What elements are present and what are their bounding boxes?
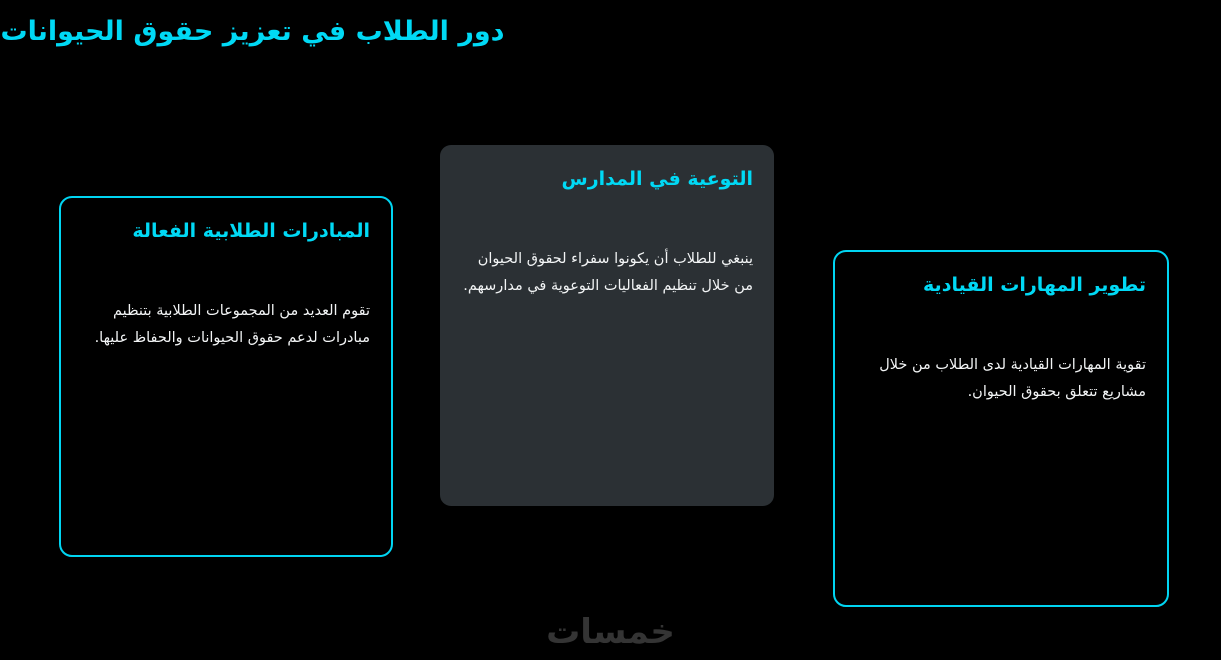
card-leadership-skills[interactable]: تطوير المهارات القيادية تقوية المهارات ا…: [833, 250, 1169, 607]
slide-canvas: دور الطلاب في تعزيز حقوق الحيوانات المبا…: [0, 0, 1221, 660]
card-title-school-awareness: التوعية في المدارس: [562, 166, 754, 193]
card-body-leadership-skills: تقوية المهارات القيادية لدى الطلاب من خل…: [853, 352, 1146, 406]
watermark-khamsat: خمسات: [0, 612, 1221, 652]
card-body-school-awareness: ينبغي للطلاب أن يكونوا سفراء لحقوق الحيو…: [458, 246, 753, 300]
card-body-student-initiatives: تقوم العديد من المجموعات الطلابية بتنظيم…: [79, 298, 370, 352]
card-student-initiatives[interactable]: المبادرات الطلابية الفعالة تقوم العديد م…: [59, 196, 393, 557]
page-title: دور الطلاب في تعزيز حقوق الحيوانات: [0, 14, 505, 50]
card-school-awareness[interactable]: التوعية في المدارس ينبغي للطلاب أن يكونو…: [440, 145, 774, 506]
card-title-student-initiatives: المبادرات الطلابية الفعالة: [132, 218, 370, 245]
card-title-leadership-skills: تطوير المهارات القيادية: [923, 272, 1146, 299]
